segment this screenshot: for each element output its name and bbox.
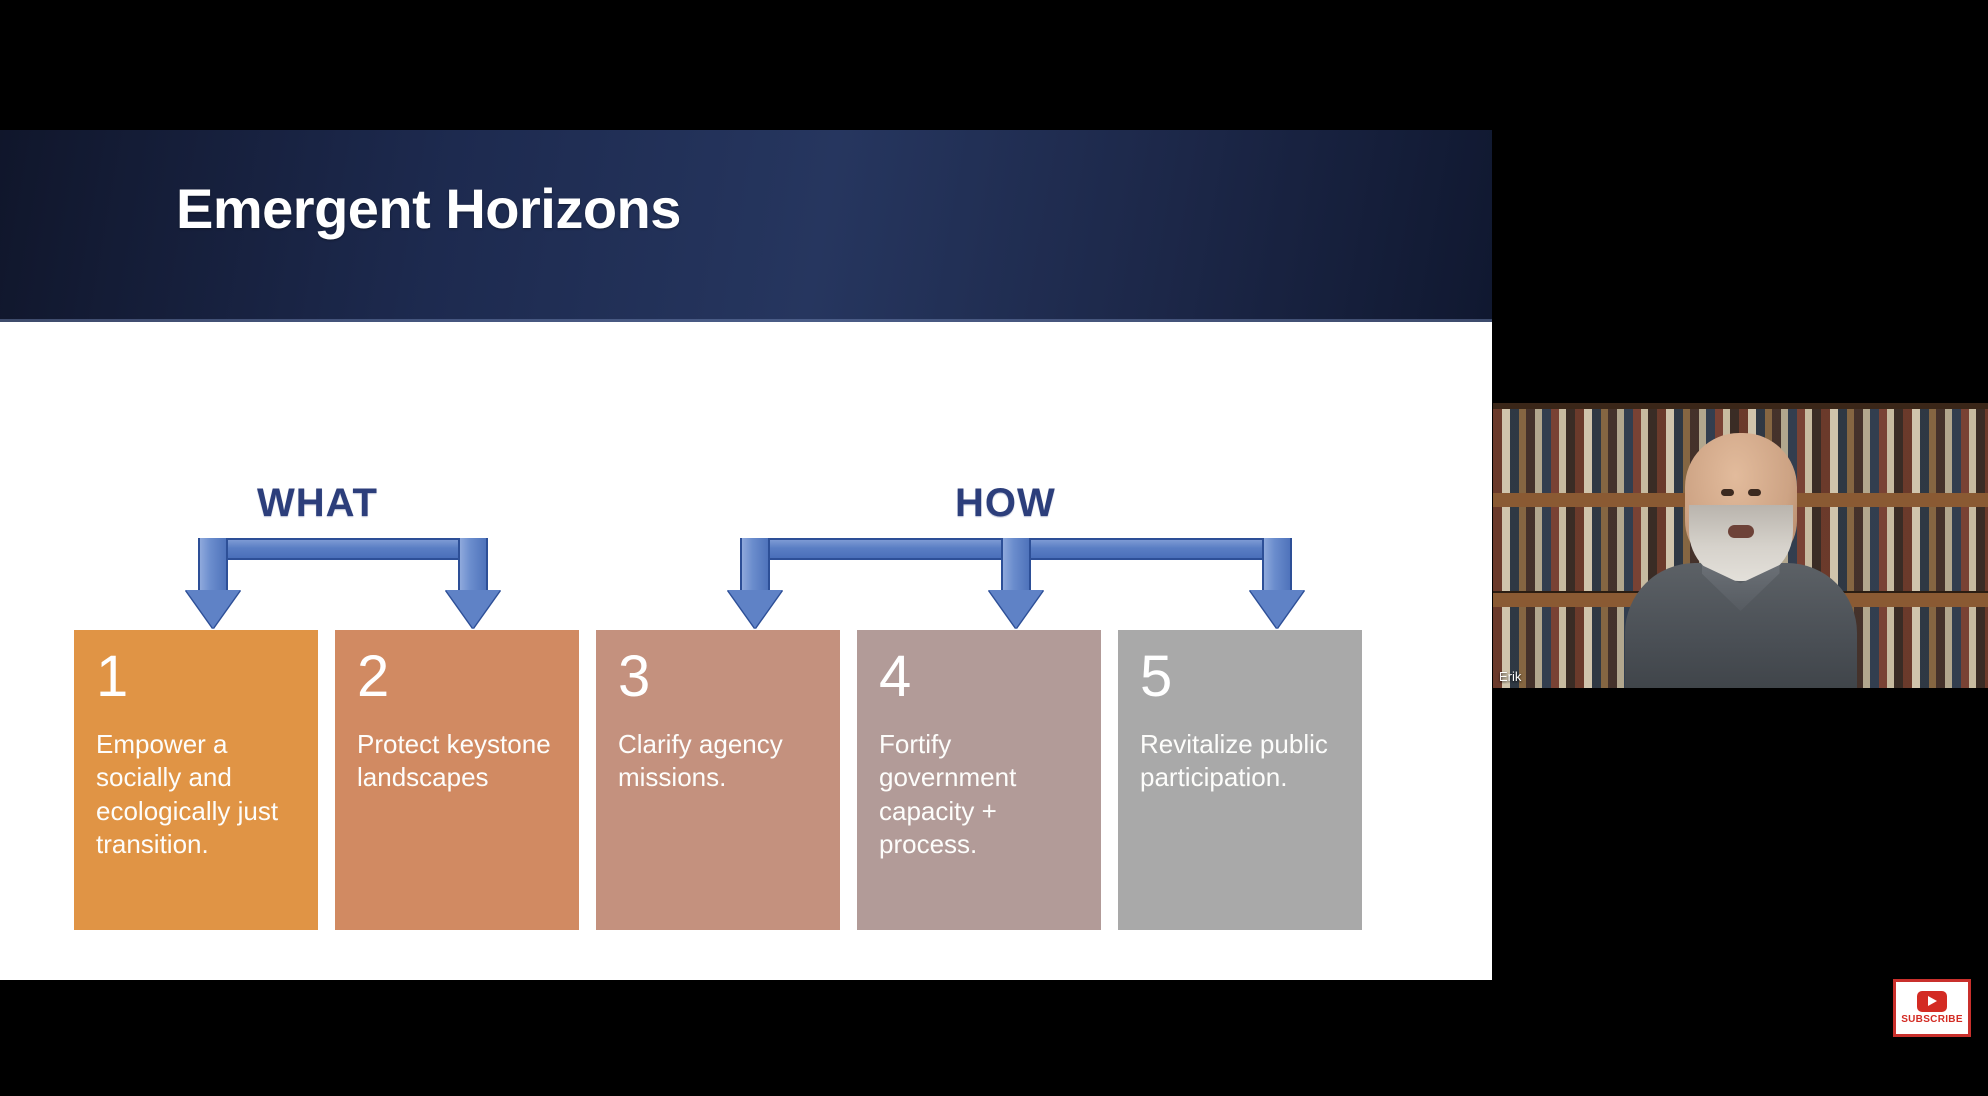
bracket-stem-right: [458, 538, 488, 594]
bracket-arrow-what: [198, 538, 488, 618]
arrow-head-down-1: [186, 590, 240, 628]
speaker-avatar: [1611, 427, 1871, 688]
arrow-head-down-3: [728, 590, 782, 628]
page-title: Emergent Horizons: [176, 176, 681, 241]
subscribe-button[interactable]: SUBSCRIBE: [1893, 979, 1971, 1037]
speaker-torso: [1625, 563, 1857, 688]
horizon-box-1[interactable]: 1 Empower a socially and ecologically ju…: [74, 630, 318, 930]
webcam-overlay[interactable]: Erik: [1493, 403, 1988, 688]
slide-title-banner: Emergent Horizons: [0, 130, 1492, 322]
arrow-head-down-2: [446, 590, 500, 628]
horizon-box-2[interactable]: 2 Protect keystone landscapes: [335, 630, 579, 930]
group-label-how: HOW: [955, 481, 1056, 526]
horizon-box-number: 1: [96, 648, 300, 706]
horizon-box-number: 4: [879, 648, 1083, 706]
horizon-box-number: 2: [357, 648, 561, 706]
speaker-eye-left: [1721, 489, 1734, 496]
horizon-box-number: 5: [1140, 648, 1344, 706]
bracket-bar: [198, 538, 488, 560]
horizon-box-text: Empower a socially and ecologically just…: [96, 728, 300, 861]
arrow-head-down-5: [1250, 590, 1304, 628]
speaker-eye-right: [1748, 489, 1761, 496]
arrow-head-down-4: [989, 590, 1043, 628]
subscribe-label: SUBSCRIBE: [1901, 1014, 1963, 1025]
group-label-what: WHAT: [257, 481, 378, 526]
horizon-box-text: Fortify government capacity + process.: [879, 728, 1083, 861]
presentation-slide: Emergent Horizons WHAT HOW 1 Em: [0, 130, 1492, 980]
horizon-box-text: Protect keystone landscapes: [357, 728, 561, 795]
horizon-box-text: Revitalize public participation.: [1140, 728, 1344, 795]
horizon-box-row: 1 Empower a socially and ecologically ju…: [74, 630, 1419, 930]
horizon-box-4[interactable]: 4 Fortify government capacity + process.: [857, 630, 1101, 930]
participant-name-label: Erik: [1499, 669, 1521, 684]
bracket-stem-left: [198, 538, 228, 594]
youtube-play-icon: [1917, 991, 1947, 1012]
speaker-mouth: [1728, 525, 1754, 538]
bracket-stem-left: [740, 538, 770, 594]
horizon-box-3[interactable]: 3 Clarify agency missions.: [596, 630, 840, 930]
horizon-box-text: Clarify agency missions.: [618, 728, 822, 795]
horizon-box-number: 3: [618, 648, 822, 706]
video-stage: Emergent Horizons WHAT HOW 1 Em: [0, 0, 1988, 1096]
bracket-stem-middle: [1001, 538, 1031, 594]
bracket-stem-right: [1262, 538, 1292, 594]
horizon-box-5[interactable]: 5 Revitalize public participation.: [1118, 630, 1362, 930]
bracket-arrow-how: [740, 538, 1292, 618]
